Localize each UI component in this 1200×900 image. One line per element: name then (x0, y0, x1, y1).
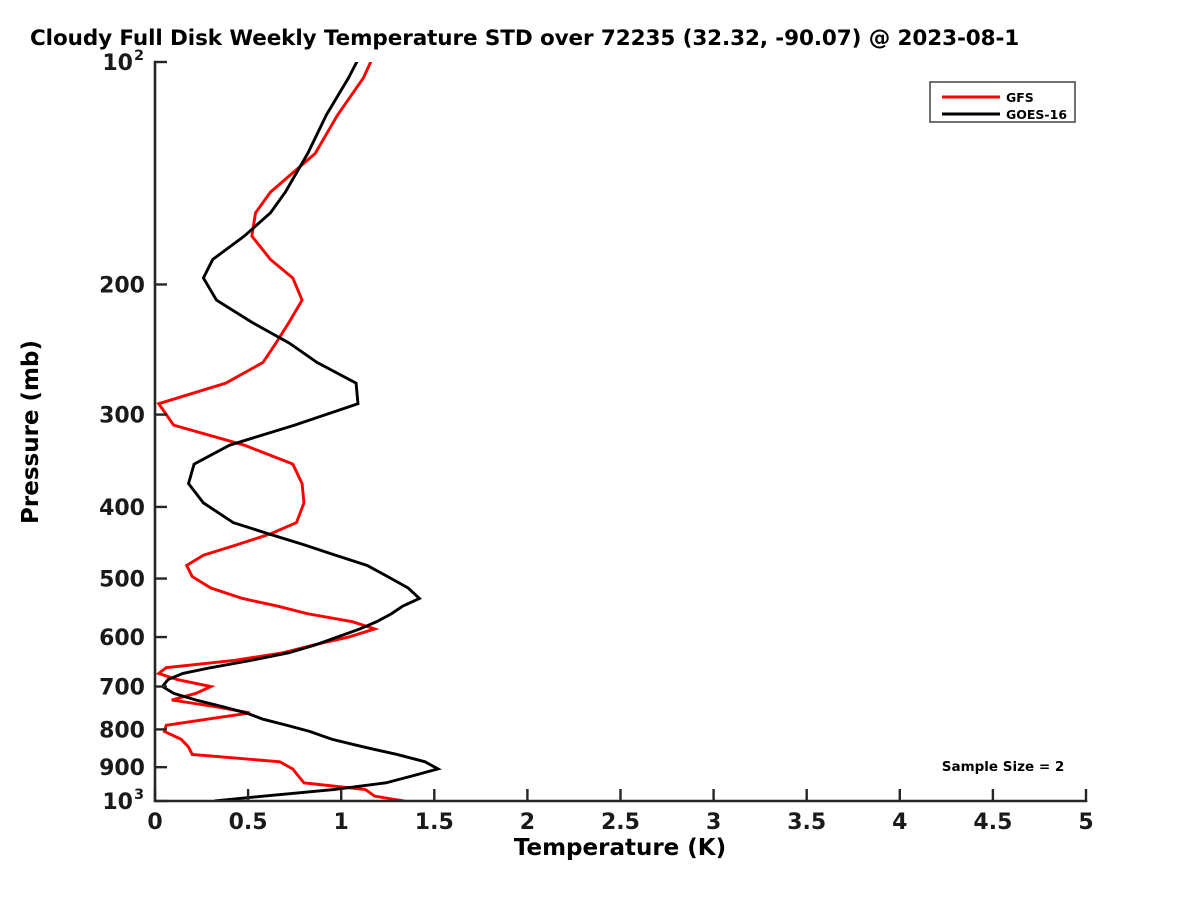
y-tick-label-500: 500 (99, 568, 145, 593)
legend[interactable]: GFSGOES-16 (930, 82, 1075, 122)
x-tick-label-0-5: 0.5 (229, 810, 268, 835)
x-axis-tick-labels: 00.511.522.533.544.55 (147, 810, 1093, 835)
y-axis-title: Pressure (mb) (18, 340, 44, 524)
y-tick-label-700: 700 (99, 676, 145, 701)
chart-title: Cloudy Full Disk Weekly Temperature STD … (30, 26, 1019, 51)
y-tick-label-900: 900 (99, 756, 145, 781)
sample-size-annotation: Sample Size = 2 (942, 759, 1065, 775)
x-tick-label-2-5: 2.5 (601, 810, 640, 835)
y-tick-label-1000: 10 (102, 790, 133, 815)
x-tick-label-3-5: 3.5 (787, 810, 826, 835)
legend-label-gfs: GFS (1006, 90, 1034, 105)
temperature-std-profile-plot: 102200300400500600700800900103 00.511.52… (0, 0, 1200, 900)
x-axis-ticks (155, 789, 1086, 801)
x-tick-label-0: 0 (147, 810, 162, 835)
y-axis-ticks (155, 62, 167, 801)
y-axis-tick-labels: 102200300400500600700800900103 (99, 48, 145, 815)
y-tick-label-200: 200 (99, 273, 145, 298)
y-tick-label-300: 300 (99, 404, 145, 429)
x-tick-label-1-5: 1.5 (415, 810, 454, 835)
figure-canvas: Cloudy Full Disk Weekly Temperature STD … (0, 0, 1200, 900)
y-tick-label-800: 800 (99, 718, 145, 743)
x-axis-title: Temperature (K) (514, 835, 726, 861)
x-tick-label-1: 1 (334, 810, 349, 835)
y-tick-label-400: 400 (99, 496, 145, 521)
legend-label-goes-16: GOES-16 (1006, 107, 1067, 122)
x-tick-label-2: 2 (520, 810, 535, 835)
y-tick-label-600: 600 (99, 626, 145, 651)
x-tick-label-3: 3 (706, 810, 721, 835)
y-tick-exponent-1000: 3 (134, 787, 144, 803)
x-tick-label-5: 5 (1078, 810, 1093, 835)
x-tick-label-4: 4 (892, 810, 907, 835)
series-line-gfs (159, 49, 405, 801)
x-tick-label-4-5: 4.5 (973, 810, 1012, 835)
data-series-group (159, 49, 438, 801)
y-tick-label-100: 10 (102, 51, 133, 76)
